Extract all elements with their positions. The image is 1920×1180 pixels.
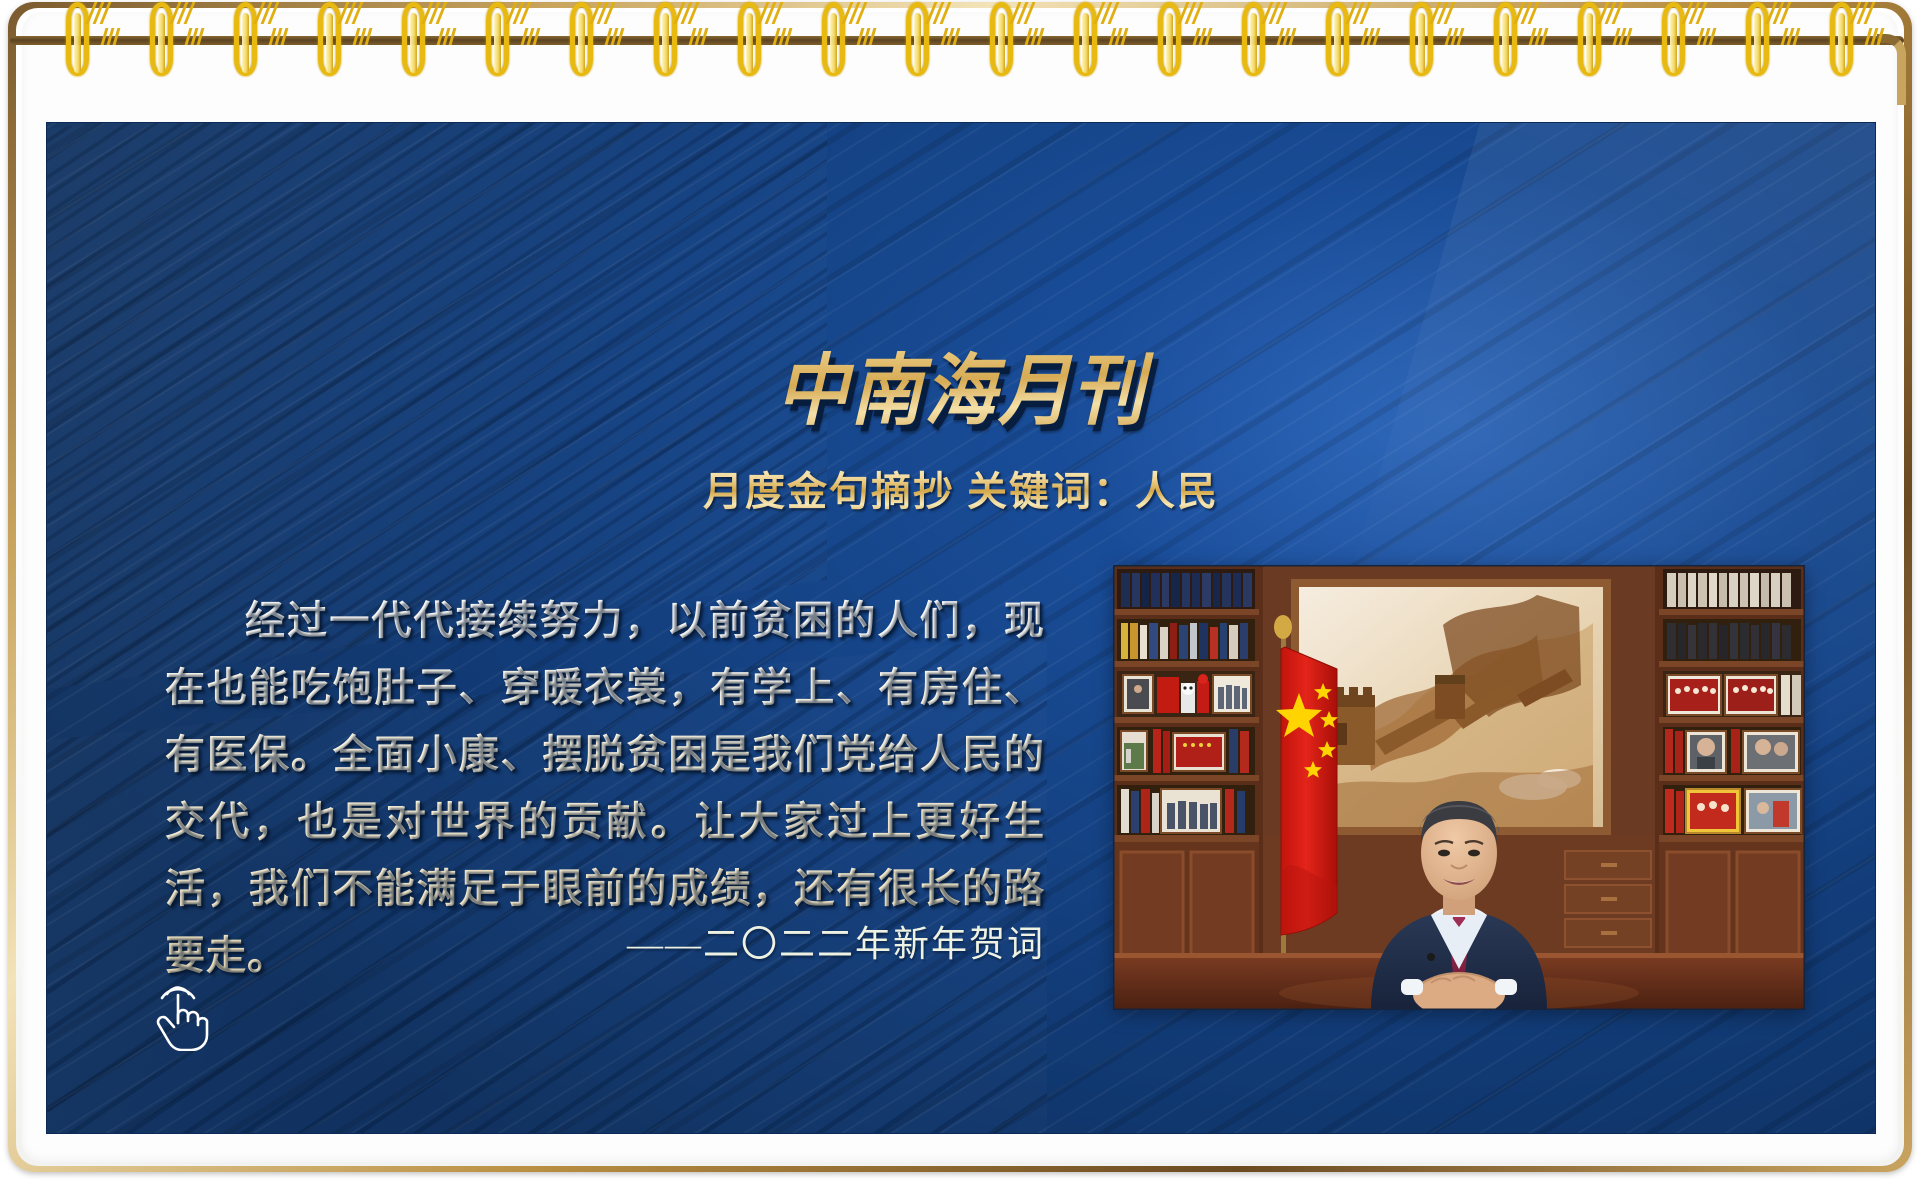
binding-wire-tick: [1866, 28, 1886, 46]
binding-wire-tail: [844, 2, 866, 26]
binding-wire-tick: [858, 28, 878, 46]
binding-ring: [650, 2, 680, 80]
binding-ring: [1322, 2, 1352, 80]
binding-wire-tick: [774, 28, 794, 46]
binding-wire-tick: [1698, 28, 1718, 46]
binding-ring: [398, 2, 428, 80]
binding-wire-tail: [88, 2, 110, 26]
bookshelf-left: [1113, 569, 1259, 965]
binding-ring: [1238, 2, 1268, 80]
binding-ring: [146, 2, 176, 80]
binding-wire: [1578, 2, 1601, 76]
binding-wire-tail: [592, 2, 614, 26]
binding-wire-tail: [1768, 2, 1790, 26]
binding-wire-tail: [1264, 2, 1286, 26]
spiral-binding: [0, 0, 1920, 120]
binding-wire: [654, 2, 677, 76]
binding-wire-tick: [942, 28, 962, 46]
binding-wire: [990, 2, 1013, 76]
binding-ring: [566, 2, 596, 80]
binding-wire-tick: [522, 28, 542, 46]
binding-wire: [66, 2, 89, 76]
binding-wire-tick: [1782, 28, 1802, 46]
page-title: 中南海月刊: [47, 327, 1875, 440]
binding-ring: [986, 2, 1016, 80]
binding-wire: [1074, 2, 1097, 76]
binding-wire-tick: [690, 28, 710, 46]
binding-wire: [1410, 2, 1433, 76]
binding-ring: [314, 2, 344, 80]
binding-wire-tick: [438, 28, 458, 46]
speech-photo: [1113, 565, 1805, 1010]
binding-ring: [1154, 2, 1184, 80]
binding-wire-tick: [102, 28, 122, 46]
binding-wire-tick: [1278, 28, 1298, 46]
bookshelf-right: [1659, 569, 1805, 965]
chinese-flag: [1274, 615, 1338, 955]
binding-ring: [1658, 2, 1688, 80]
binding-wire: [234, 2, 257, 76]
binding-wire-tail: [1096, 2, 1118, 26]
binding-wire: [1494, 2, 1517, 76]
binding-wire: [906, 2, 929, 76]
binding-wire-tail: [1516, 2, 1538, 26]
binding-wire-tail: [676, 2, 698, 26]
binding-wire-tick: [1194, 28, 1214, 46]
binding-wire: [486, 2, 509, 76]
binding-wire: [1830, 2, 1853, 76]
binding-wire: [570, 2, 593, 76]
binding-ring: [734, 2, 764, 80]
binding-wire-tick: [1026, 28, 1046, 46]
binding-ring: [818, 2, 848, 80]
binding-wire: [1662, 2, 1685, 76]
binding-wire-tick: [354, 28, 374, 46]
binding-wire: [822, 2, 845, 76]
binding-wire-tail: [1180, 2, 1202, 26]
binding-wire-tail: [340, 2, 362, 26]
binding-ring: [1826, 2, 1856, 80]
binding-ring: [902, 2, 932, 80]
binding-ring: [1070, 2, 1100, 80]
binding-ring: [1490, 2, 1520, 80]
binding-wire-tail: [508, 2, 530, 26]
binding-wire: [150, 2, 173, 76]
binding-ring: [1406, 2, 1436, 80]
binding-wire-tick: [606, 28, 626, 46]
binding-wire-tail: [256, 2, 278, 26]
binding-wire-tail: [1852, 2, 1874, 26]
binding-wire: [318, 2, 341, 76]
binding-wire: [1746, 2, 1769, 76]
binding-wire-tail: [424, 2, 446, 26]
binding-ring: [482, 2, 512, 80]
binding-ring: [1742, 2, 1772, 80]
binding-wire-tail: [760, 2, 782, 26]
binding-wire-tail: [172, 2, 194, 26]
binding-wire-tick: [186, 28, 206, 46]
binding-wire-tail: [1012, 2, 1034, 26]
binding-wire-tail: [928, 2, 950, 26]
quote-attribution: ——二〇二二年新年贺词: [165, 915, 1045, 967]
notebook-page: 中南海月刊 月度金句摘抄 关键词：人民 经过一代代接续努力，以前贫困的人们，现在…: [0, 0, 1920, 1180]
binding-wire: [1326, 2, 1349, 76]
binding-wire-tick: [1110, 28, 1130, 46]
page-subtitle: 月度金句摘抄 关键词：人民: [47, 459, 1875, 517]
binding-wire-tick: [270, 28, 290, 46]
binding-wire: [1242, 2, 1265, 76]
tap-hand-icon[interactable]: [147, 973, 213, 1051]
binding-wire-tick: [1446, 28, 1466, 46]
great-wall-painting: [1291, 579, 1611, 835]
slide-canvas: 中南海月刊 月度金句摘抄 关键词：人民 经过一代代接续努力，以前贫困的人们，现在…: [46, 122, 1876, 1134]
binding-ring: [1574, 2, 1604, 80]
binding-ring: [62, 2, 92, 80]
binding-wire-tick: [1530, 28, 1550, 46]
binding-ring: [230, 2, 260, 80]
binding-wire: [402, 2, 425, 76]
binding-wire-tick: [1362, 28, 1382, 46]
binding-wire-tail: [1600, 2, 1622, 26]
binding-wire-tail: [1432, 2, 1454, 26]
speech-photo-illustration: [1113, 565, 1805, 1010]
binding-wire-tail: [1684, 2, 1706, 26]
binding-wire-tail: [1348, 2, 1370, 26]
binding-wire: [1158, 2, 1181, 76]
binding-wire: [738, 2, 761, 76]
binding-wire-tick: [1614, 28, 1634, 46]
